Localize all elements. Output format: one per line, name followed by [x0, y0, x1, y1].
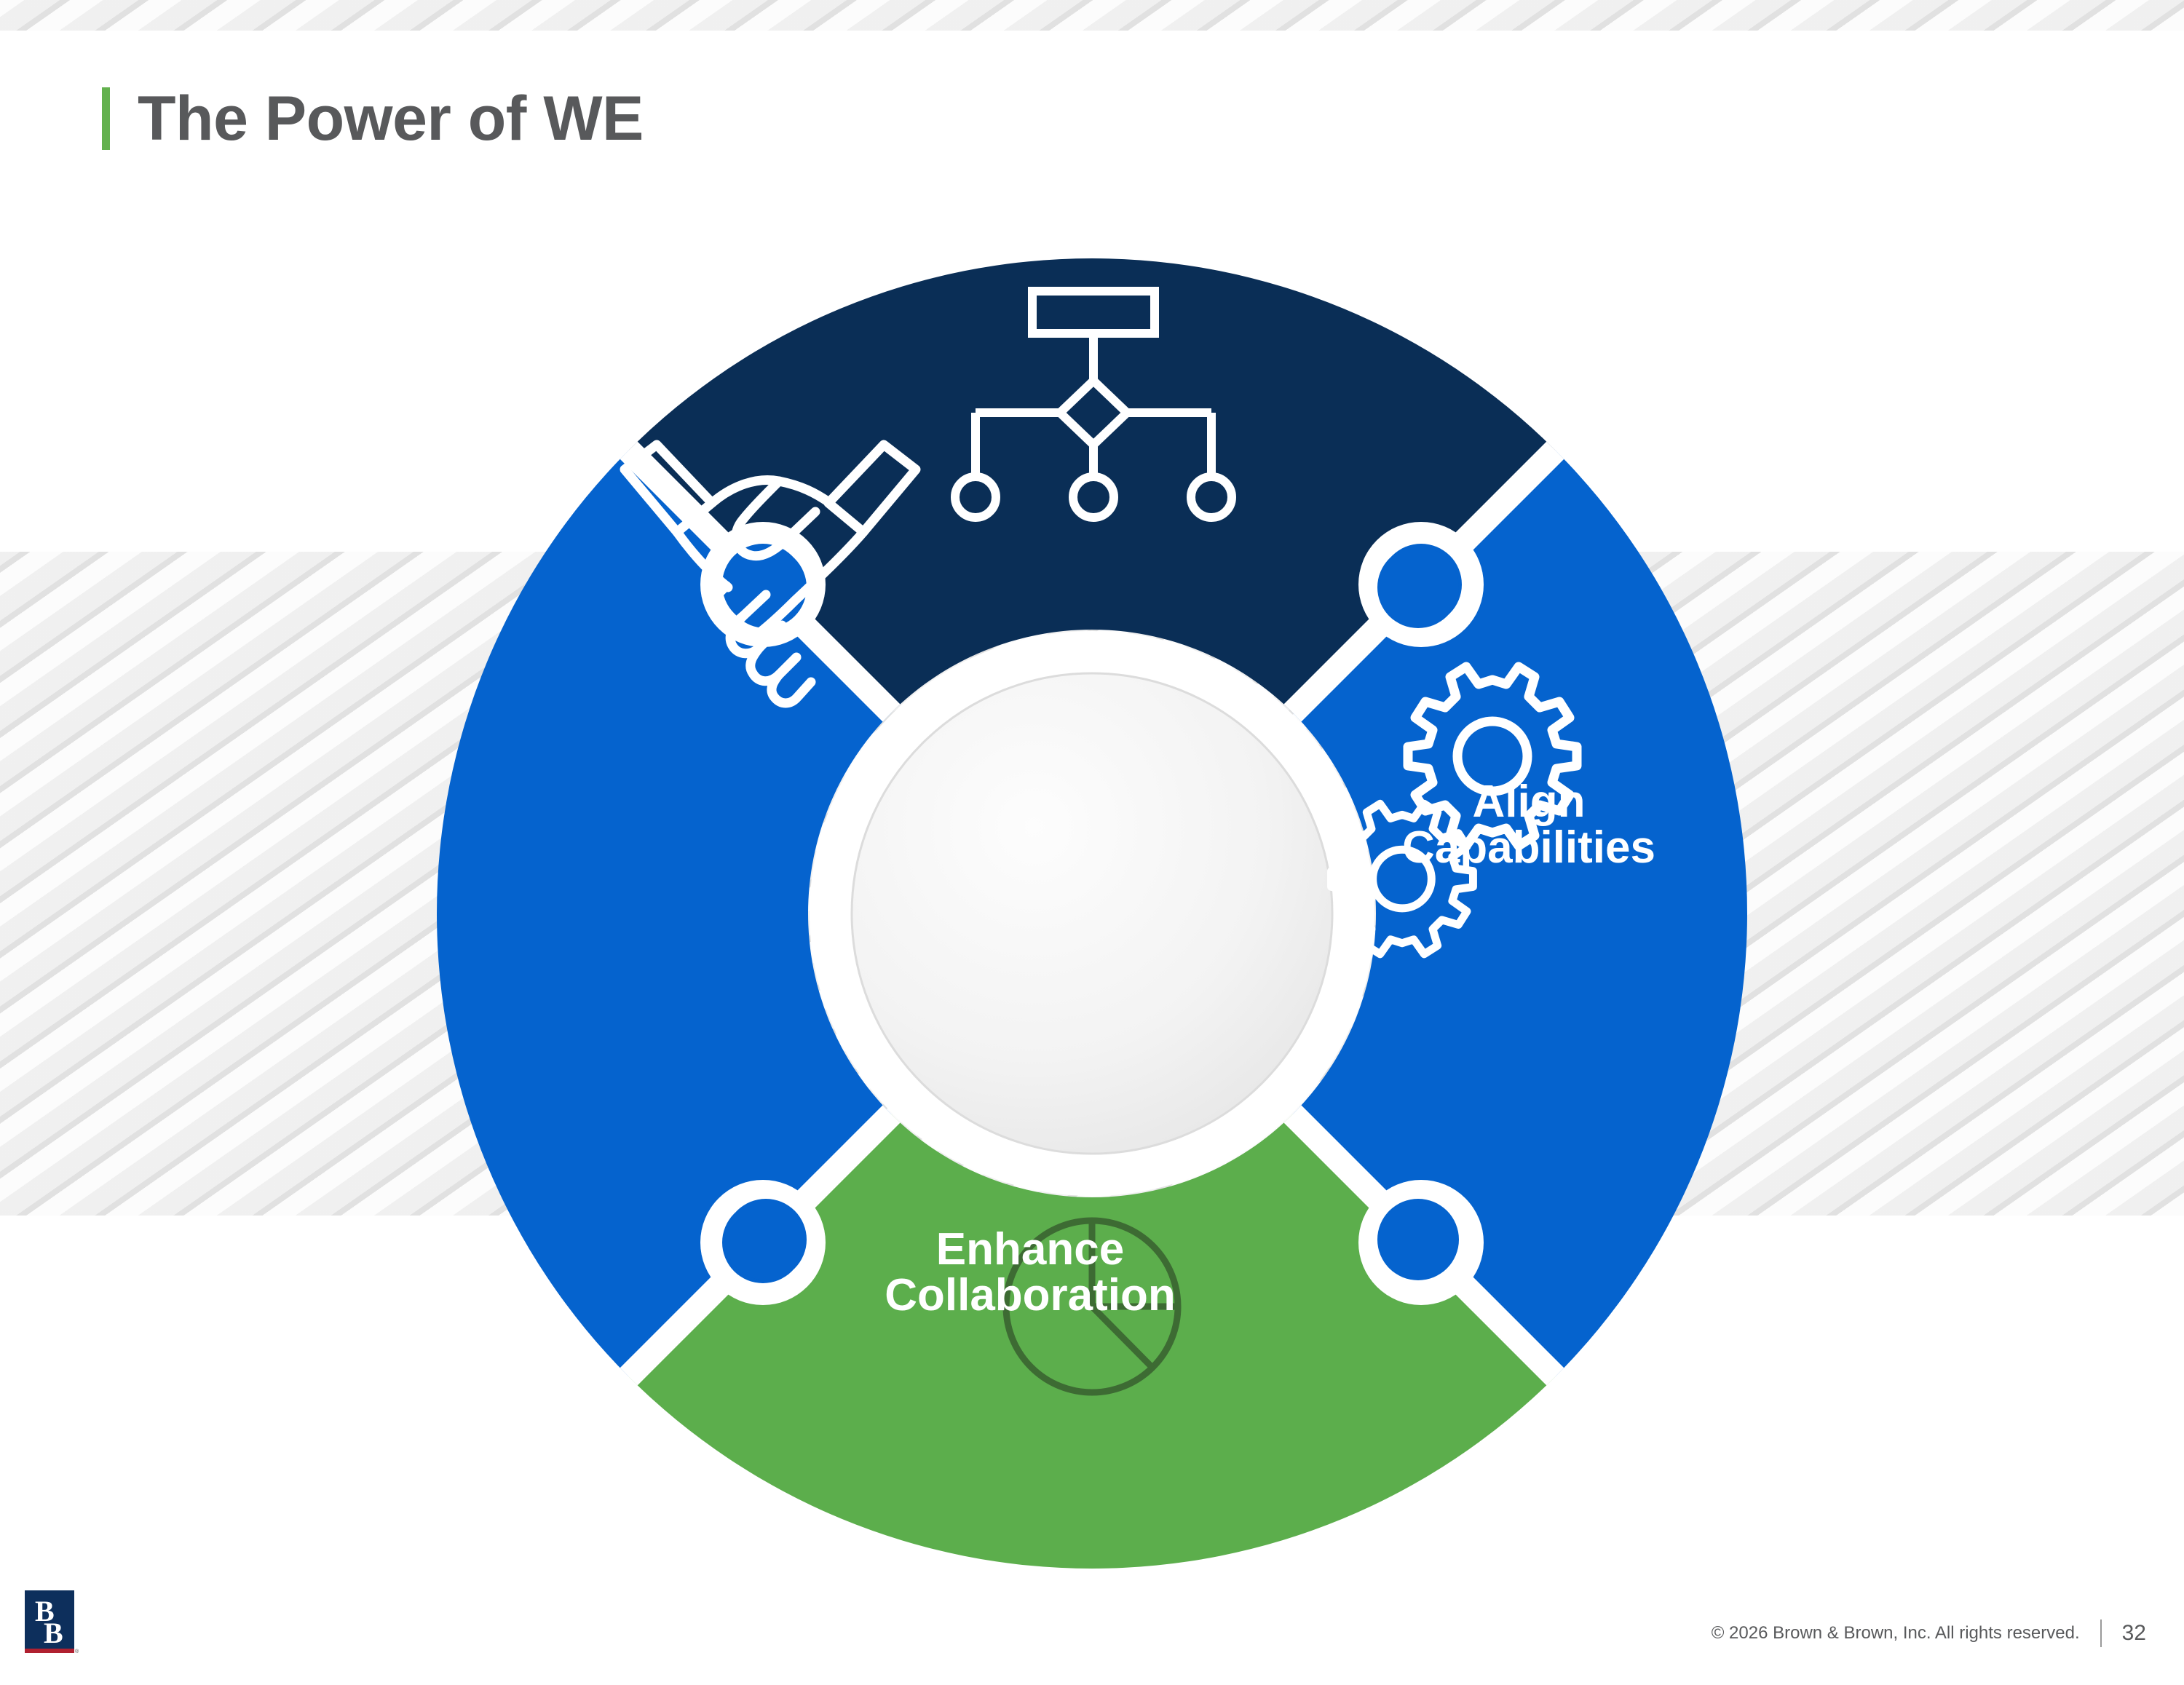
svg-text:®: ® — [75, 1649, 79, 1654]
footer-divider — [2100, 1619, 2102, 1647]
title-accent-bar — [102, 87, 110, 150]
page-number: 32 — [2122, 1621, 2146, 1646]
brown-and-brown-logo: B B ® — [25, 1590, 80, 1657]
copyright-text: © 2026 Brown & Brown, Inc. All rights re… — [1712, 1623, 2080, 1644]
decorative-stripe-band-top — [0, 0, 2184, 31]
slide-header: The Power of WE — [102, 87, 644, 150]
svg-text:B: B — [44, 1617, 63, 1649]
center-hub[interactable] — [810, 631, 1374, 1196]
page-title: The Power of WE — [138, 87, 644, 150]
slide-canvas: The Power of WE — [0, 0, 2184, 1685]
puzzle-wheel-graphic — [437, 258, 1747, 1569]
segment-label-operationalize: Operationalize — [1813, 1266, 2184, 1312]
power-of-we-puzzle-wheel: Align Capabilities Operationalize Invest… — [437, 258, 1747, 1569]
footer: © 2026 Brown & Brown, Inc. All rights re… — [1712, 1619, 2146, 1647]
